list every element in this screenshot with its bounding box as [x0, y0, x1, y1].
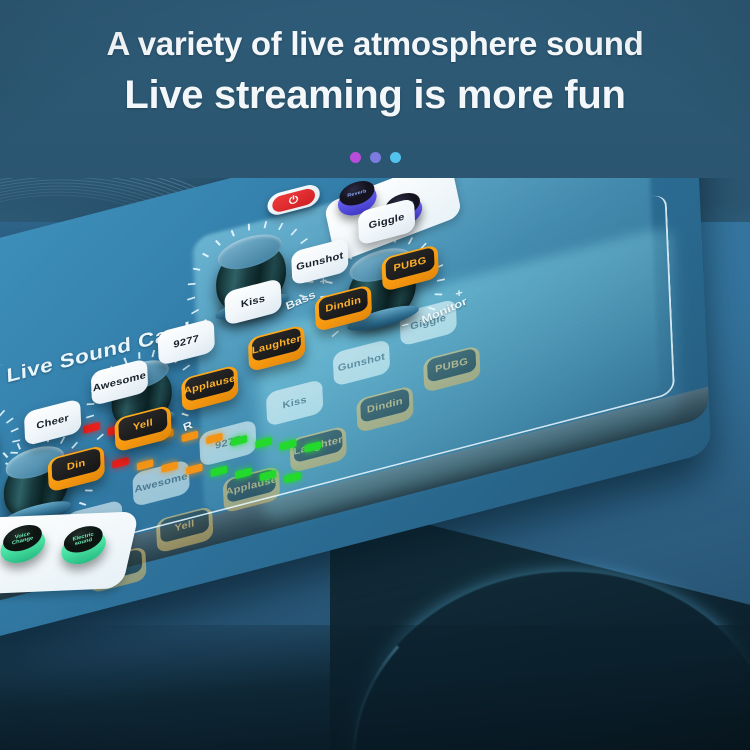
dot-2[interactable] [370, 152, 381, 163]
sound-pad-label: Kiss [241, 294, 266, 310]
dot-1[interactable] [350, 152, 361, 163]
sound-pad-label: Cheer [36, 413, 69, 431]
headline-primary: A variety of live atmosphere sound [0, 25, 750, 63]
dot-3[interactable] [390, 152, 401, 163]
sound-pad-label: Giggle [368, 212, 404, 231]
sound-pad-label: Gunshot [296, 251, 344, 273]
header-banner: A variety of live atmosphere sound Live … [0, 0, 750, 178]
screenshot-root: CheerDinAwesomeYell9277ApplauseKissLaugh… [0, 0, 750, 750]
sound-pad-label: Awesome [93, 370, 147, 394]
carousel-dots[interactable] [0, 152, 750, 163]
knob-minus-marker: – [402, 317, 410, 331]
knob-plus-marker: + [455, 286, 463, 300]
product-scene: CheerDinAwesomeYell9277ApplauseKissLaugh… [0, 170, 750, 750]
sound-pad-label: 9277 [173, 334, 199, 351]
headline-secondary: Live streaming is more fun [0, 73, 750, 118]
decor-bottom-shade [0, 625, 750, 750]
